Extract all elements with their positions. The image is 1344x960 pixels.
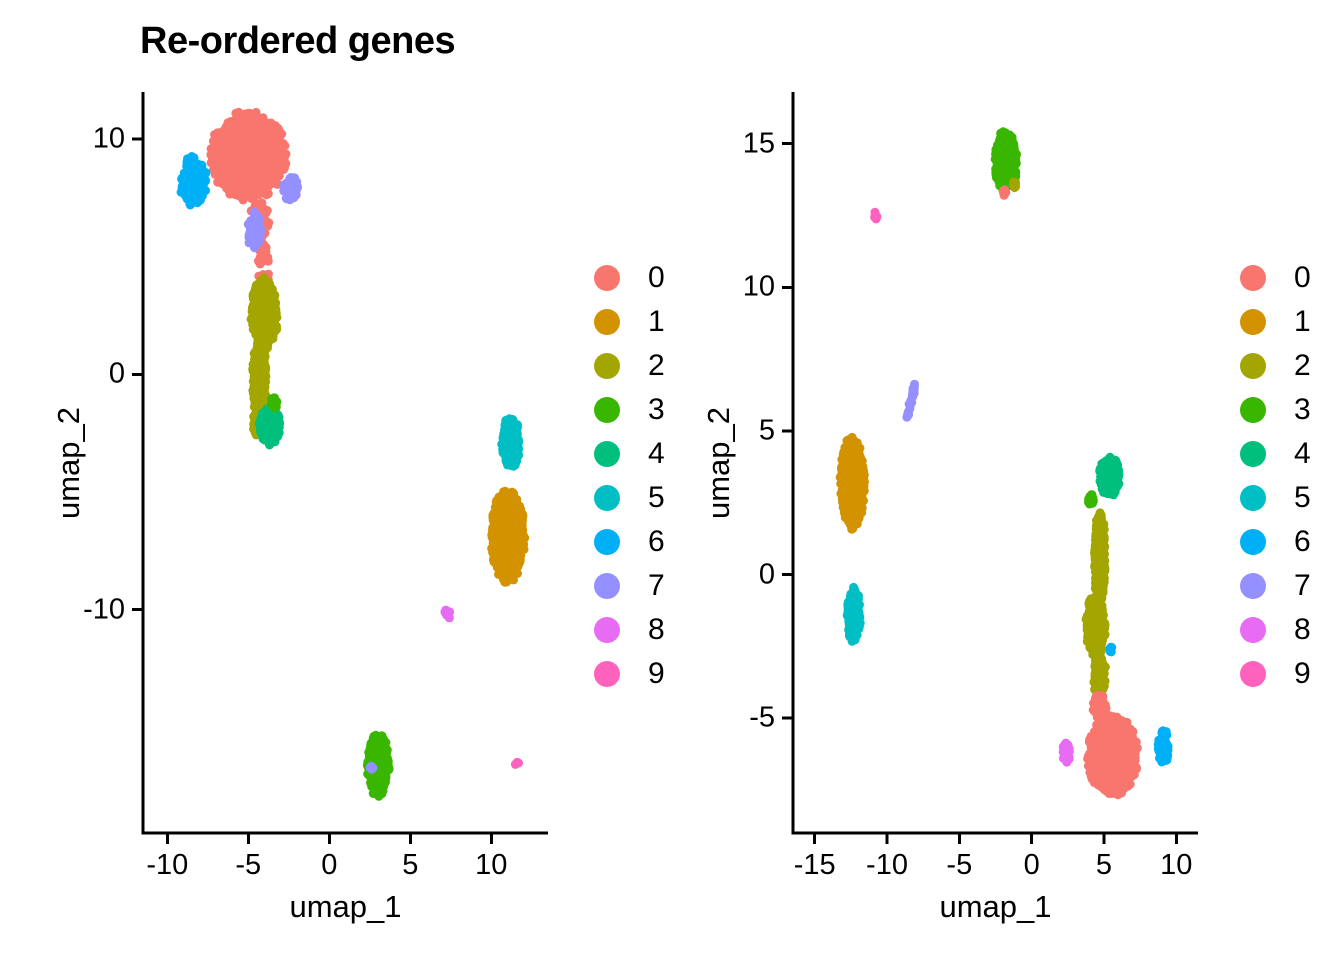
legend-label: 7 <box>1294 571 1311 601</box>
legend-label: 4 <box>1294 439 1311 469</box>
legend-swatch-icon <box>594 573 620 599</box>
x-tick-label: 0 <box>321 849 337 882</box>
legend-item-1[interactable]: 1 <box>1240 300 1311 344</box>
legend-label: 0 <box>1294 263 1311 293</box>
point-cloud <box>177 108 530 801</box>
legend-swatch-icon <box>594 529 620 555</box>
legend-item-0[interactable]: 0 <box>1240 256 1311 300</box>
legend-swatch-icon <box>1240 661 1266 687</box>
legend-swatch-icon <box>1240 573 1266 599</box>
legend-swatch-icon <box>1240 441 1266 467</box>
legend-swatch-icon <box>1240 485 1266 511</box>
legend-right: 0123456789 <box>1240 256 1311 696</box>
x-tick-label: -10 <box>866 849 908 882</box>
scatter-plot-right <box>650 0 1250 960</box>
legend-item-3[interactable]: 3 <box>1240 388 1311 432</box>
scatter-panel-right: -15-10-50510151050-5umap_1umap_2 <box>650 0 1250 960</box>
legend-item-7[interactable]: 7 <box>1240 564 1311 608</box>
legend-swatch-icon <box>594 397 620 423</box>
point-cloud <box>836 127 1173 799</box>
x-tick-label: -15 <box>794 849 836 882</box>
y-tick-label: 10 <box>743 271 775 304</box>
x-tick-label: -5 <box>946 849 972 882</box>
legend-swatch-icon <box>594 265 620 291</box>
legend-swatch-icon <box>1240 617 1266 643</box>
x-axis-label: umap_1 <box>289 889 401 925</box>
x-axis-label: umap_1 <box>939 889 1051 925</box>
legend-swatch-icon <box>594 309 620 335</box>
axis-lines <box>143 92 548 833</box>
x-tick-label: 10 <box>1160 849 1192 882</box>
legend-swatch-icon <box>1240 529 1266 555</box>
legend-item-4[interactable]: 4 <box>1240 432 1311 476</box>
y-tick-label: 0 <box>109 358 125 391</box>
x-tick-label: 0 <box>1024 849 1040 882</box>
legend-swatch-icon <box>594 485 620 511</box>
legend-item-6[interactable]: 6 <box>1240 520 1311 564</box>
legend-item-8[interactable]: 8 <box>1240 608 1311 652</box>
y-tick-label: 10 <box>93 123 125 156</box>
legend-swatch-icon <box>1240 397 1266 423</box>
legend-label: 8 <box>1294 615 1311 645</box>
legend-item-5[interactable]: 5 <box>1240 476 1311 520</box>
y-tick-label: -10 <box>83 593 125 626</box>
x-tick-label: 10 <box>475 849 507 882</box>
x-tick-label: -5 <box>235 849 261 882</box>
x-tick-label: -10 <box>146 849 188 882</box>
legend-label: 5 <box>1294 483 1311 513</box>
legend-swatch-icon <box>1240 265 1266 291</box>
legend-item-9[interactable]: 9 <box>1240 652 1311 696</box>
legend-label: 6 <box>1294 527 1311 557</box>
figure-canvas: Re-ordered genes -10-50510100-10umap_1um… <box>0 0 1344 960</box>
x-tick-label: 5 <box>402 849 418 882</box>
legend-swatch-icon <box>594 441 620 467</box>
legend-swatch-icon <box>594 353 620 379</box>
legend-label: 3 <box>1294 395 1311 425</box>
y-tick-label: 5 <box>759 414 775 447</box>
legend-swatch-icon <box>1240 353 1266 379</box>
y-tick-label: 0 <box>759 558 775 591</box>
y-axis-label: umap_2 <box>701 406 737 518</box>
legend-swatch-icon <box>594 661 620 687</box>
y-axis-label: umap_2 <box>51 406 87 518</box>
y-tick-label: 15 <box>743 127 775 160</box>
scatter-plot-left <box>0 0 600 960</box>
legend-label: 1 <box>1294 307 1311 337</box>
legend-swatch-icon <box>1240 309 1266 335</box>
scatter-panel-left: -10-50510100-10umap_1umap_2 <box>0 0 600 960</box>
legend-label: 2 <box>1294 351 1311 381</box>
legend-swatch-icon <box>594 617 620 643</box>
legend-item-2[interactable]: 2 <box>1240 344 1311 388</box>
y-tick-label: -5 <box>749 702 775 735</box>
legend-label: 9 <box>1294 659 1311 689</box>
x-tick-label: 5 <box>1096 849 1112 882</box>
